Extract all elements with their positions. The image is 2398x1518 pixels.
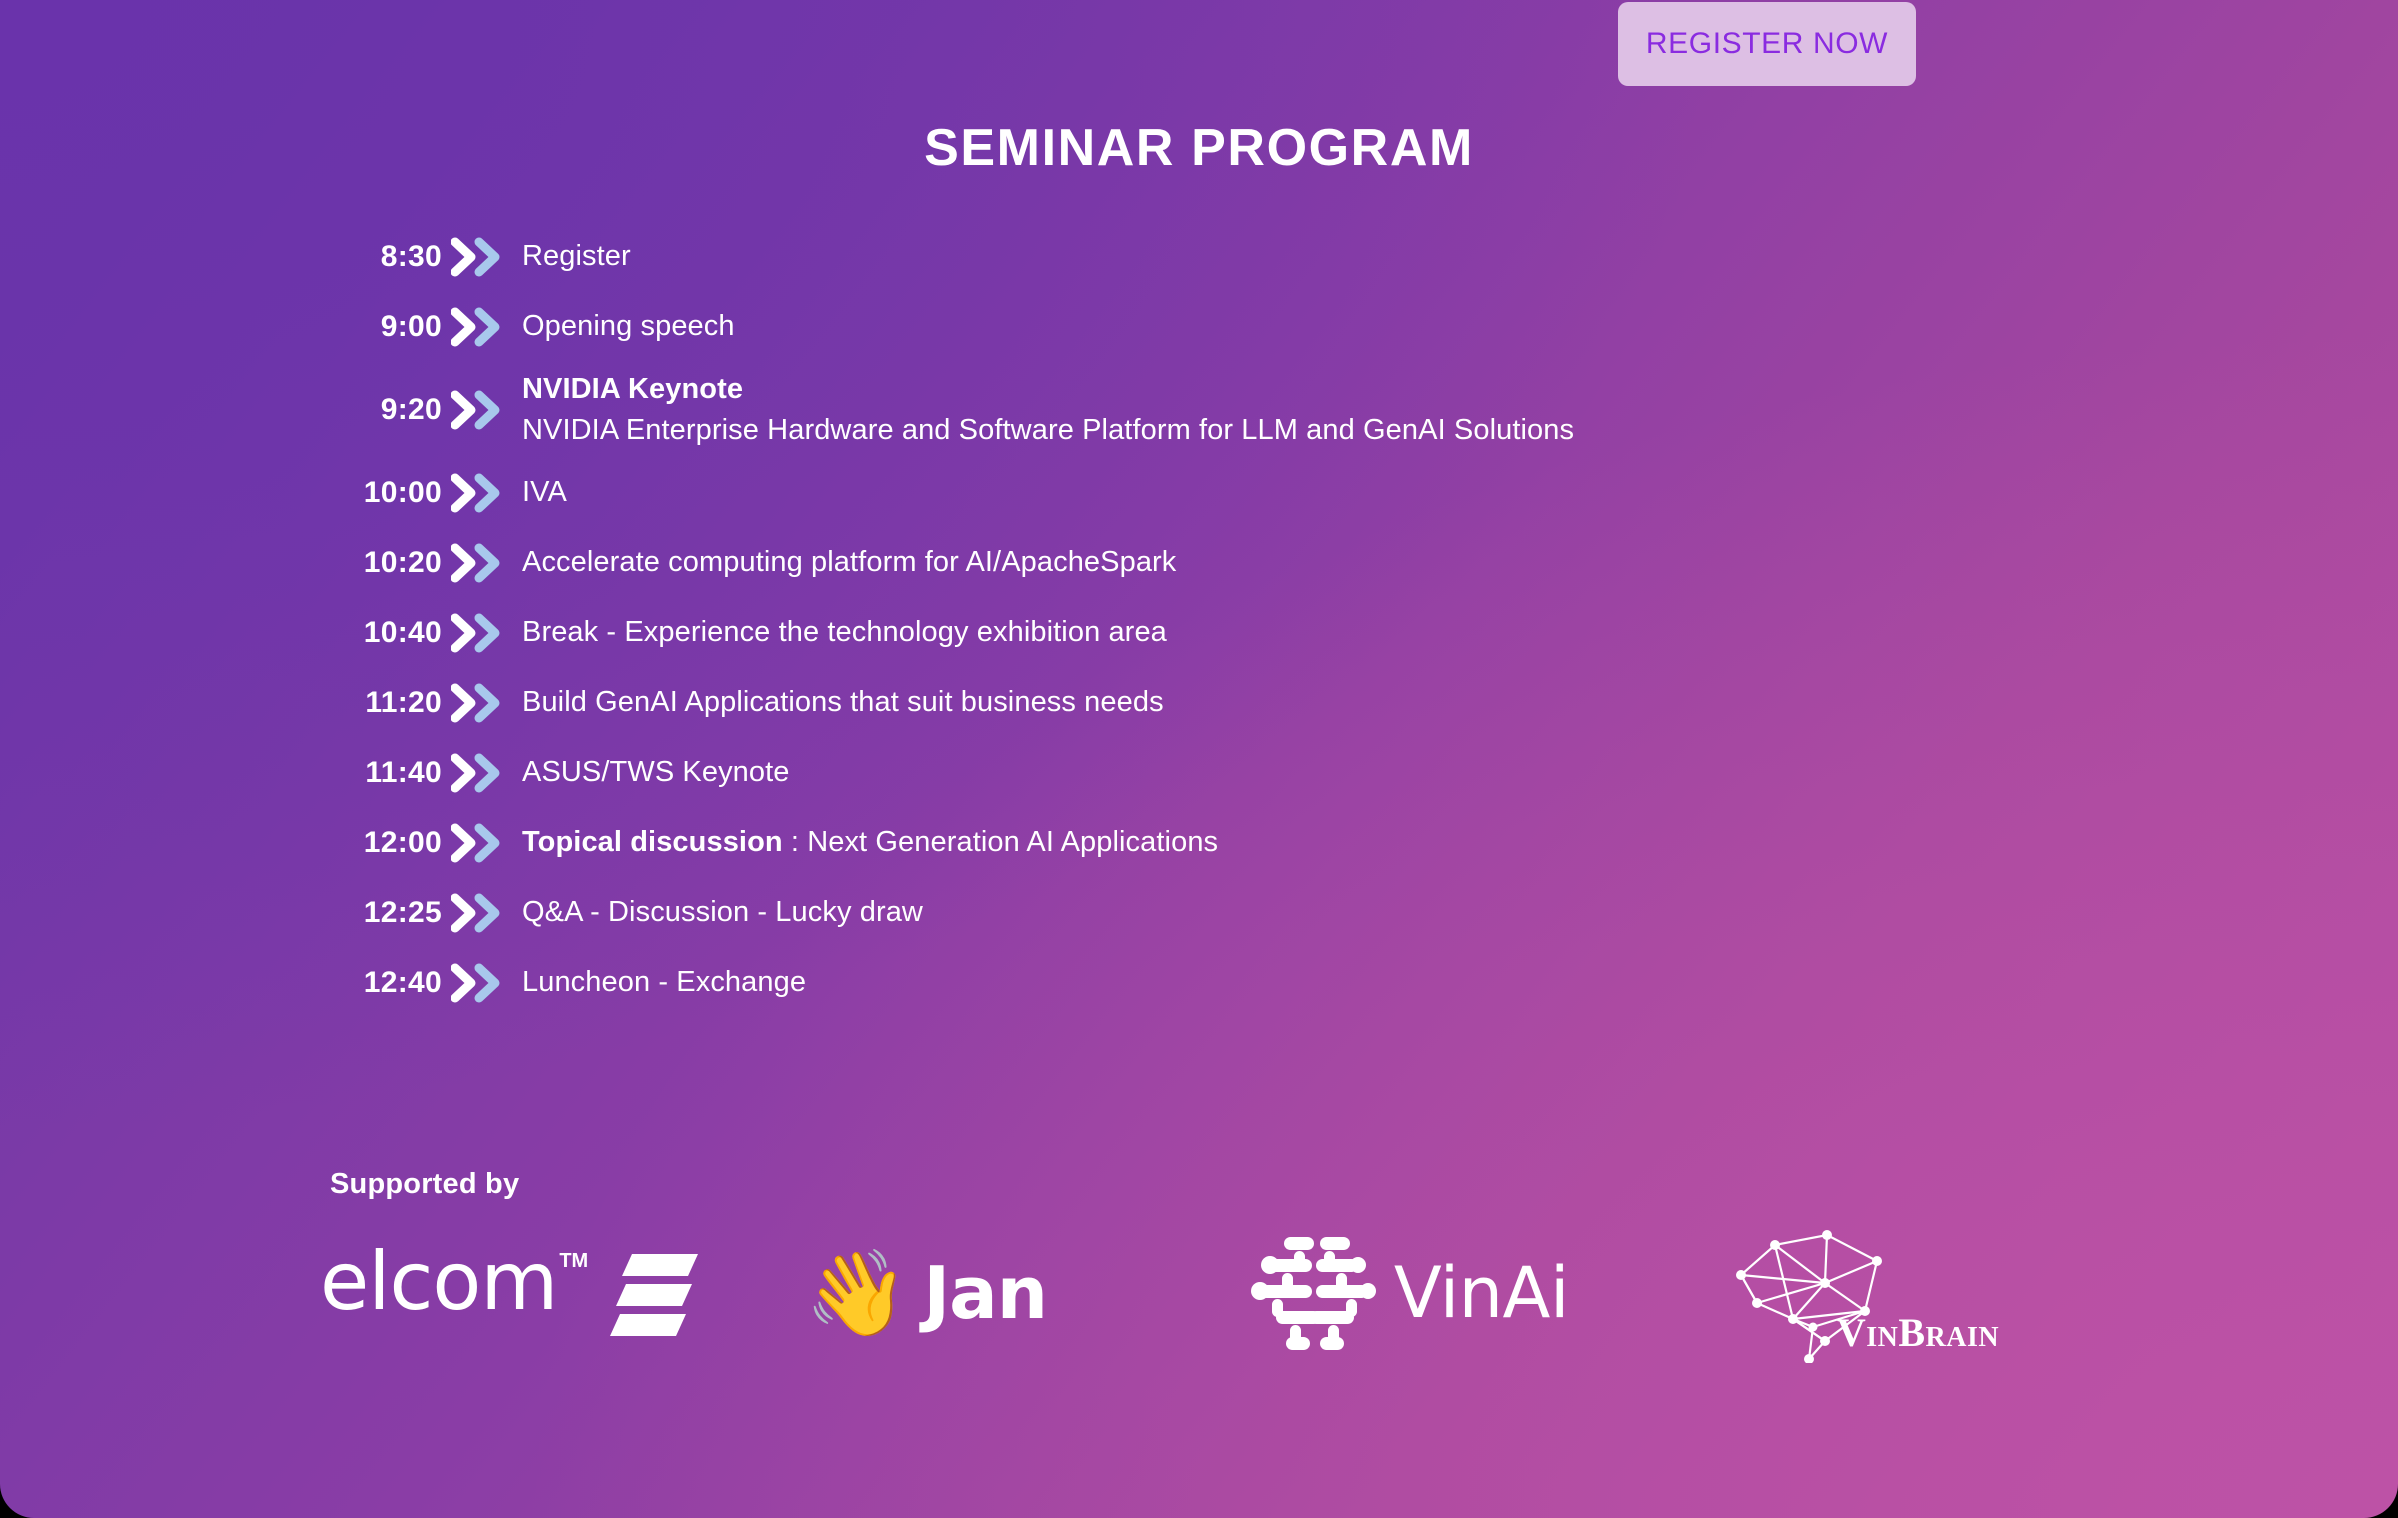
schedule-row: 11:20 Build GenAI Applications that suit… (330, 668, 2230, 738)
schedule-title: Q&A - Discussion - Lucky draw (522, 892, 923, 933)
schedule-row: 8:30 Register (330, 222, 2230, 292)
schedule-title: Build GenAI Applications that suit busin… (522, 682, 1164, 723)
schedule-row: 10:20 Accelerate computing platform for … (330, 528, 2230, 598)
waving-hand-icon: 👋 (805, 1251, 910, 1335)
double-chevron-icon (442, 753, 522, 793)
schedule-row: 11:40 ASUS/TWS Keynote (330, 738, 2230, 808)
logo-elcom: elcom TM (300, 1218, 780, 1368)
trademark-symbol: TM (559, 1250, 588, 1273)
vinbrain-wordmark: VinBrain (1837, 1309, 1999, 1356)
jan-wordmark: Jan (923, 1251, 1047, 1335)
seminar-program-slide: REGISTER NOW SEMINAR PROGRAM 8:30 Regist… (0, 0, 2398, 1518)
schedule-title: NVIDIA Keynote (522, 369, 1574, 410)
double-chevron-icon (442, 390, 522, 430)
schedule-title: Accelerate computing platform for AI/Apa… (522, 542, 1176, 583)
double-chevron-icon (442, 307, 522, 347)
schedule-title: IVA (522, 472, 567, 513)
schedule-time: 11:20 (330, 686, 442, 720)
schedule-time: 10:20 (330, 546, 442, 580)
page-title: SEMINAR PROGRAM (0, 118, 2398, 178)
double-chevron-icon (442, 543, 522, 583)
schedule-title: Break - Experience the technology exhibi… (522, 612, 1167, 653)
double-chevron-icon (442, 613, 522, 653)
double-chevron-icon (442, 473, 522, 513)
schedule-title: Topical discussion (522, 826, 783, 858)
schedule-title-block: Topical discussion : Next Generation AI … (522, 822, 1218, 863)
double-chevron-icon (442, 237, 522, 277)
schedule-title: Opening speech (522, 306, 735, 347)
schedule-time: 12:00 (330, 826, 442, 860)
sponsor-logo-row: elcom TM 👋 Jan (300, 1218, 2130, 1368)
schedule-row: 9:20 NVIDIA Keynote NVIDIA Enterprise Ha… (330, 362, 2230, 458)
logo-jan: 👋 Jan (780, 1218, 1230, 1368)
schedule-row: 10:40 Break - Experience the technology … (330, 598, 2230, 668)
schedule-time: 12:40 (330, 966, 442, 1000)
schedule-title: ASUS/TWS Keynote (522, 752, 790, 793)
schedule-time: 10:40 (330, 616, 442, 650)
double-chevron-icon (442, 893, 522, 933)
schedule-time: 12:25 (330, 896, 442, 930)
schedule-row: 9:00 Opening speech (330, 292, 2230, 362)
vinai-wordmark: VinAi (1394, 1252, 1569, 1334)
schedule-time: 9:20 (330, 393, 442, 427)
elcom-e-mark-icon (602, 1252, 702, 1343)
schedule-row: 10:00 IVA (330, 458, 2230, 528)
schedule-row: 12:00 Topical discussion : Next Generati… (330, 808, 2230, 878)
double-chevron-icon (442, 683, 522, 723)
schedule-row: 12:25 Q&A - Discussion - Lucky draw (330, 878, 2230, 948)
schedule-time: 10:00 (330, 476, 442, 510)
logo-vinai: VinAi (1230, 1218, 1690, 1368)
schedule-title: Register (522, 236, 631, 277)
schedule-time: 11:40 (330, 756, 442, 790)
elcom-wordmark: elcom (320, 1244, 557, 1320)
schedule-time: 9:00 (330, 310, 442, 344)
double-chevron-icon (442, 823, 522, 863)
vinai-circuit-mark-icon (1250, 1231, 1378, 1356)
supported-by-label: Supported by (330, 1168, 519, 1201)
program-schedule-list: 8:30 Register 9:00 Opening speech 9: (330, 222, 2230, 1018)
schedule-title-rest: : Next Generation AI Applications (783, 826, 1218, 858)
schedule-time: 8:30 (330, 240, 442, 274)
schedule-title-block: NVIDIA Keynote NVIDIA Enterprise Hardwar… (522, 369, 1574, 451)
logo-vinbrain: VinBrain (1690, 1218, 2130, 1368)
double-chevron-icon (442, 963, 522, 1003)
schedule-row: 12:40 Luncheon - Exchange (330, 948, 2230, 1018)
schedule-title: Luncheon - Exchange (522, 962, 806, 1003)
register-now-button[interactable]: REGISTER NOW (1618, 2, 1916, 86)
schedule-subtitle: NVIDIA Enterprise Hardware and Software … (522, 410, 1574, 451)
